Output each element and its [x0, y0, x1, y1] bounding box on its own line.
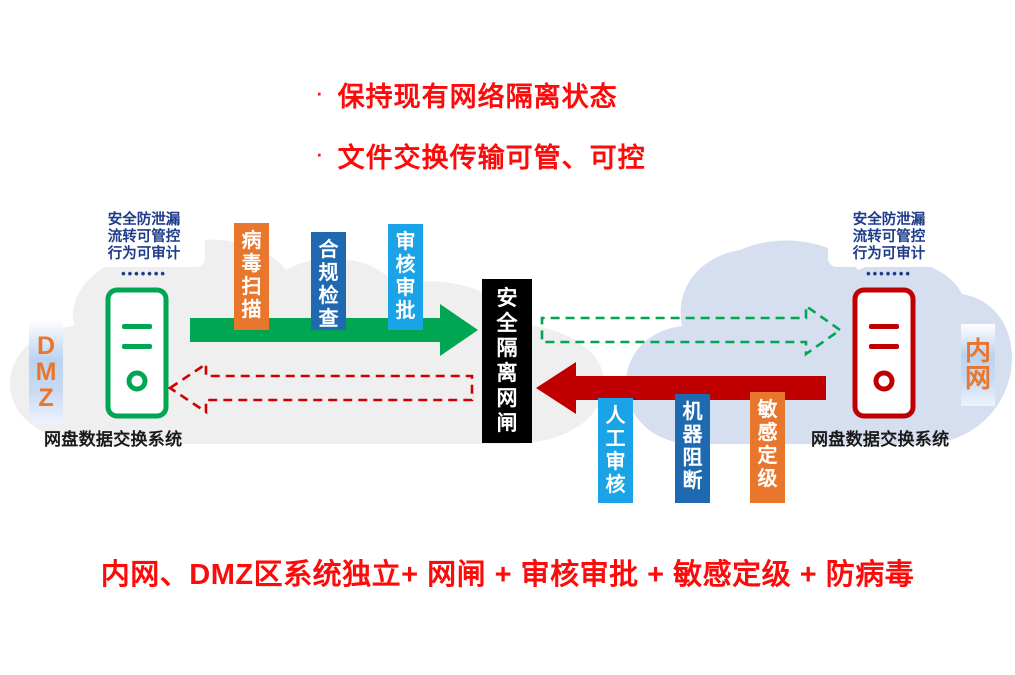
intranet-char-1: 内	[965, 338, 991, 365]
tab-machine-block-char-1: 机	[683, 401, 703, 424]
intranet-zone-label-panel: 内 网	[961, 324, 995, 406]
dmz-zone-label-panel: D M Z	[29, 320, 63, 424]
tab-machine-block[interactable]: 机 器 阻 断	[675, 394, 710, 503]
dmz-callout-bubble: 安全防泄漏 流转可管控 行为可审计 •••••••	[83, 206, 205, 280]
intranet-callout-box: 安全防泄漏 流转可管控 行为可审计	[828, 206, 950, 267]
bullet-marker-icon: ·	[315, 140, 324, 166]
tab-review-approval-char-3: 审	[396, 277, 416, 300]
tab-manual-review-char-3: 审	[606, 451, 626, 474]
tab-review-approval-char-1: 审	[396, 231, 416, 254]
intranet-callout-bubble: 安全防泄漏 流转可管控 行为可审计 •••••••	[828, 206, 950, 280]
tab-review-approval[interactable]: 审 核 审 批	[388, 224, 423, 330]
gateway-char-4: 离	[497, 361, 518, 386]
bullet-item-1: · 保持现有网络隔离状态	[315, 75, 935, 114]
intranet-callout-line-3: 行为可审计	[833, 246, 945, 263]
bullet-text-1: 保持现有网络隔离状态	[338, 75, 618, 114]
gateway-char-1: 安	[497, 286, 518, 311]
tab-manual-review-char-2: 工	[606, 428, 626, 451]
tab-manual-review[interactable]: 人 工 审 核	[598, 398, 633, 503]
tab-compliance-char-1: 合	[319, 239, 339, 262]
tab-virus-scan-char-3: 扫	[242, 276, 262, 299]
dmz-callout-line-2: 流转可管控	[88, 229, 200, 246]
tab-sensitivity-char-4: 级	[758, 468, 778, 491]
tab-manual-review-char-1: 人	[606, 405, 626, 428]
tab-machine-block-char-4: 断	[683, 470, 703, 493]
intranet-callout-line-1: 安全防泄漏	[833, 212, 945, 229]
tab-virus-scan-char-1: 病	[242, 230, 262, 253]
intranet-callout-dots: •••••••	[828, 268, 950, 280]
tab-compliance-char-3: 检	[319, 285, 339, 308]
dmz-char-m: M	[36, 359, 57, 385]
bullet-list: · 保持现有网络隔离状态 · 文件交换传输可管、可控	[315, 75, 935, 197]
gateway-char-5: 网	[497, 386, 518, 411]
intranet-server-icon	[851, 286, 917, 425]
tab-review-approval-char-4: 批	[396, 300, 416, 323]
tab-sensitivity-char-3: 定	[758, 445, 778, 468]
gateway-char-6: 闸	[497, 411, 518, 436]
tab-manual-review-char-4: 核	[606, 474, 626, 497]
dmz-callout-line-1: 安全防泄漏	[88, 212, 200, 229]
tab-sensitivity-grading[interactable]: 敏 感 定 级	[750, 392, 785, 503]
tab-compliance-char-2: 规	[319, 262, 339, 285]
gateway-char-3: 隔	[497, 336, 518, 361]
dmz-callout-line-3: 行为可审计	[88, 246, 200, 263]
bullet-item-2: · 文件交换传输可管、可控	[315, 136, 935, 175]
summary-text: 内网、DMZ区系统独立+ 网闸 + 审核审批 + 敏感定级 + 防病毒	[0, 551, 1015, 593]
dmz-callout-box: 安全防泄漏 流转可管控 行为可审计	[83, 206, 205, 267]
tab-virus-scan-char-2: 毒	[242, 253, 262, 276]
dmz-char-d: D	[37, 333, 55, 359]
intranet-char-2: 网	[965, 365, 991, 392]
gateway-char-2: 全	[497, 311, 518, 336]
diagram-canvas: · 保持现有网络隔离状态 · 文件交换传输可管、可控 D M Z 内 网 安全防…	[0, 0, 1015, 675]
dmz-server-icon	[104, 286, 170, 425]
tab-virus-scan-char-4: 描	[242, 299, 262, 322]
tab-review-approval-char-2: 核	[396, 254, 416, 277]
dmz-system-label: 网盘数据交换系统	[44, 425, 182, 450]
dmz-callout-dots: •••••••	[83, 268, 205, 280]
tab-compliance-char-4: 查	[319, 308, 339, 331]
security-gateway-box[interactable]: 安 全 隔 离 网 闸	[482, 279, 532, 443]
tab-machine-block-char-2: 器	[683, 424, 703, 447]
dmz-char-z: Z	[38, 385, 53, 411]
intranet-callout-line-2: 流转可管控	[833, 229, 945, 246]
tab-sensitivity-char-1: 敏	[758, 399, 778, 422]
tab-virus-scan[interactable]: 病 毒 扫 描	[234, 223, 269, 330]
bullet-marker-icon: ·	[315, 79, 324, 105]
tab-machine-block-char-3: 阻	[683, 447, 703, 470]
intranet-system-label: 网盘数据交换系统	[811, 425, 949, 450]
tab-sensitivity-char-2: 感	[758, 422, 778, 445]
tab-compliance-check[interactable]: 合 规 检 查	[311, 232, 346, 330]
bullet-text-2: 文件交换传输可管、可控	[338, 136, 646, 175]
